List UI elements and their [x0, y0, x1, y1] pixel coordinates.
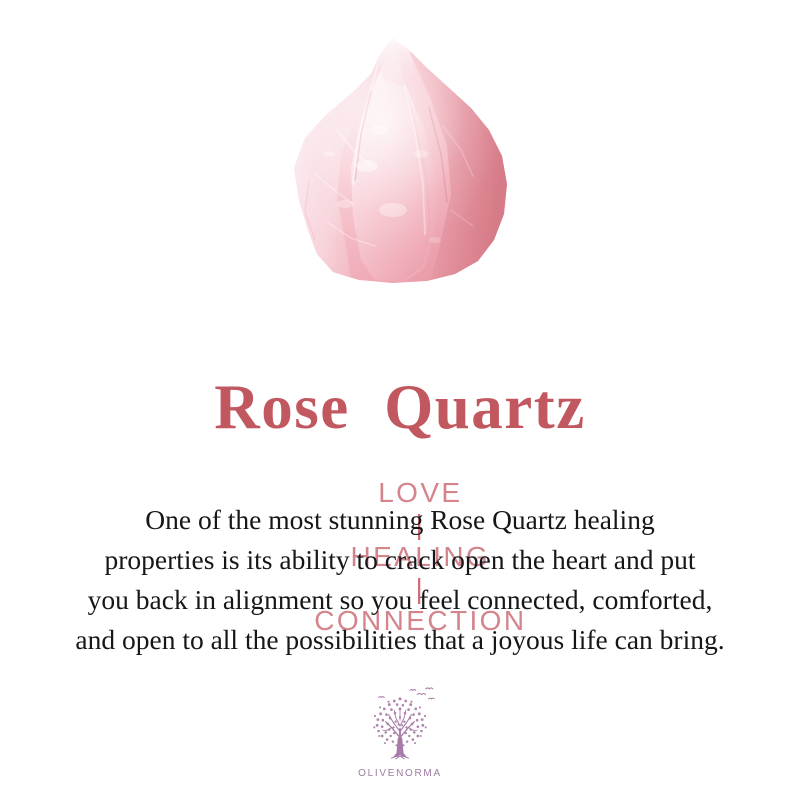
brand-logo: OLIVENORMA: [0, 686, 800, 779]
brand-wordmark: OLIVENORMA: [358, 768, 442, 779]
description-line: you back in alignment so you feel connec…: [0, 580, 800, 620]
rose-quartz-product-card: Rose Quartz LOVE | HEALING | CONNECTION …: [0, 0, 800, 800]
bird-icon-group: [379, 688, 435, 699]
tree-of-life-icon: [357, 686, 443, 766]
description-line: and open to all the possibilities that a…: [0, 620, 800, 660]
tree-roots: [391, 755, 408, 759]
rose-quartz-crystal-image: [0, 34, 800, 300]
crystal-glow: [294, 38, 507, 283]
description-line: properties is its ability to crack open …: [0, 540, 800, 580]
description-line: One of the most stunning Rose Quartz hea…: [0, 500, 800, 540]
description-paragraph: One of the most stunning Rose Quartz hea…: [0, 500, 800, 660]
page-title: Rose Quartz: [0, 374, 800, 440]
crystal-illustration: [275, 34, 525, 286]
